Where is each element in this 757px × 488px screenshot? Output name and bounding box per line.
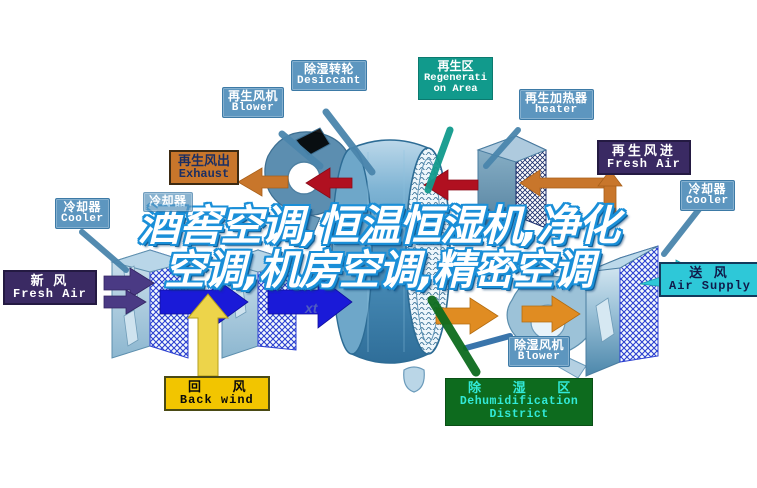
label-cooler-mid-cn: 冷却器 bbox=[149, 195, 187, 208]
label-dehumidification-blower-cn: 除湿风机 bbox=[514, 339, 564, 352]
label-cooler-left: 冷却器 Cooler bbox=[55, 198, 110, 229]
centre-mark: xt bbox=[305, 300, 317, 316]
label-regeneration-blower-en: Blower bbox=[228, 103, 278, 115]
label-regeneration-blower: 再生风机 Blower bbox=[222, 87, 284, 118]
label-cooler-mid: 冷却器 bbox=[143, 192, 193, 212]
label-dehumidification-blower-en: Blower bbox=[514, 352, 564, 364]
label-regeneration-heater: 再生加热器 heater bbox=[519, 89, 594, 120]
label-cooler-right-en: Cooler bbox=[686, 196, 729, 208]
label-regeneration-heater-cn: 再生加热器 bbox=[525, 92, 588, 105]
label-regeneration-blower-cn: 再生风机 bbox=[228, 90, 278, 103]
label-desiccant-rotor-cn: 除湿转轮 bbox=[297, 63, 361, 76]
supply-duct-graphic bbox=[586, 246, 658, 376]
label-air-supply-cn: 送 风 bbox=[669, 266, 751, 280]
label-cooler-right-cn: 冷却器 bbox=[686, 183, 729, 196]
label-regeneration-fresh-air-cn: 再生风进 bbox=[607, 144, 681, 158]
label-dehumidification-district-en-1: Dehumidification bbox=[454, 395, 584, 409]
label-dehumidification-blower: 除湿风机 Blower bbox=[508, 336, 570, 367]
label-dehumidification-district: 除 湿 区 Dehumidification District bbox=[445, 378, 593, 426]
label-regeneration-fresh-air-en: Fresh Air bbox=[607, 158, 681, 171]
label-regeneration-exhaust-en: Exhaust bbox=[178, 168, 230, 181]
label-cooler-right: 冷却器 Cooler bbox=[680, 180, 735, 211]
label-regeneration-exhaust-cn: 再生风出 bbox=[178, 154, 230, 168]
label-regeneration-exhaust: 再生风出 Exhaust bbox=[169, 150, 239, 185]
label-back-wind: 回 风 Back wind bbox=[164, 376, 270, 411]
label-desiccant-rotor-en: Desiccant bbox=[297, 76, 361, 88]
label-back-wind-en: Back wind bbox=[174, 394, 260, 407]
label-regeneration-heater-en: heater bbox=[525, 105, 588, 117]
label-back-wind-cn: 回 风 bbox=[174, 380, 260, 394]
machine-illustration bbox=[0, 0, 757, 488]
diagram-canvas: 酒窖空调,恒温恒湿机,净化 空调,机房空调,精密空调 xt 除湿转轮 Desic… bbox=[0, 0, 757, 488]
label-air-supply-en: Air Supply bbox=[669, 280, 751, 293]
label-dehumidification-district-en-2: District bbox=[454, 408, 584, 422]
label-regeneration-area-cn: 再生区 bbox=[424, 60, 487, 73]
label-fresh-air-inlet: 新 风 Fresh Air bbox=[3, 270, 97, 305]
label-regeneration-fresh-air: 再生风进 Fresh Air bbox=[597, 140, 691, 175]
label-desiccant-rotor: 除湿转轮 Desiccant bbox=[291, 60, 367, 91]
label-regeneration-area: 再生区 Regenerati on Area bbox=[418, 57, 493, 100]
label-regeneration-area-en-2: on Area bbox=[424, 84, 487, 96]
label-fresh-air-inlet-cn: 新 风 bbox=[13, 274, 87, 288]
label-air-supply: 送 风 Air Supply bbox=[659, 262, 757, 297]
label-cooler-left-en: Cooler bbox=[61, 214, 104, 226]
label-fresh-air-inlet-en: Fresh Air bbox=[13, 288, 87, 301]
label-dehumidification-district-cn: 除 湿 区 bbox=[454, 381, 584, 395]
label-cooler-left-cn: 冷却器 bbox=[61, 201, 104, 214]
